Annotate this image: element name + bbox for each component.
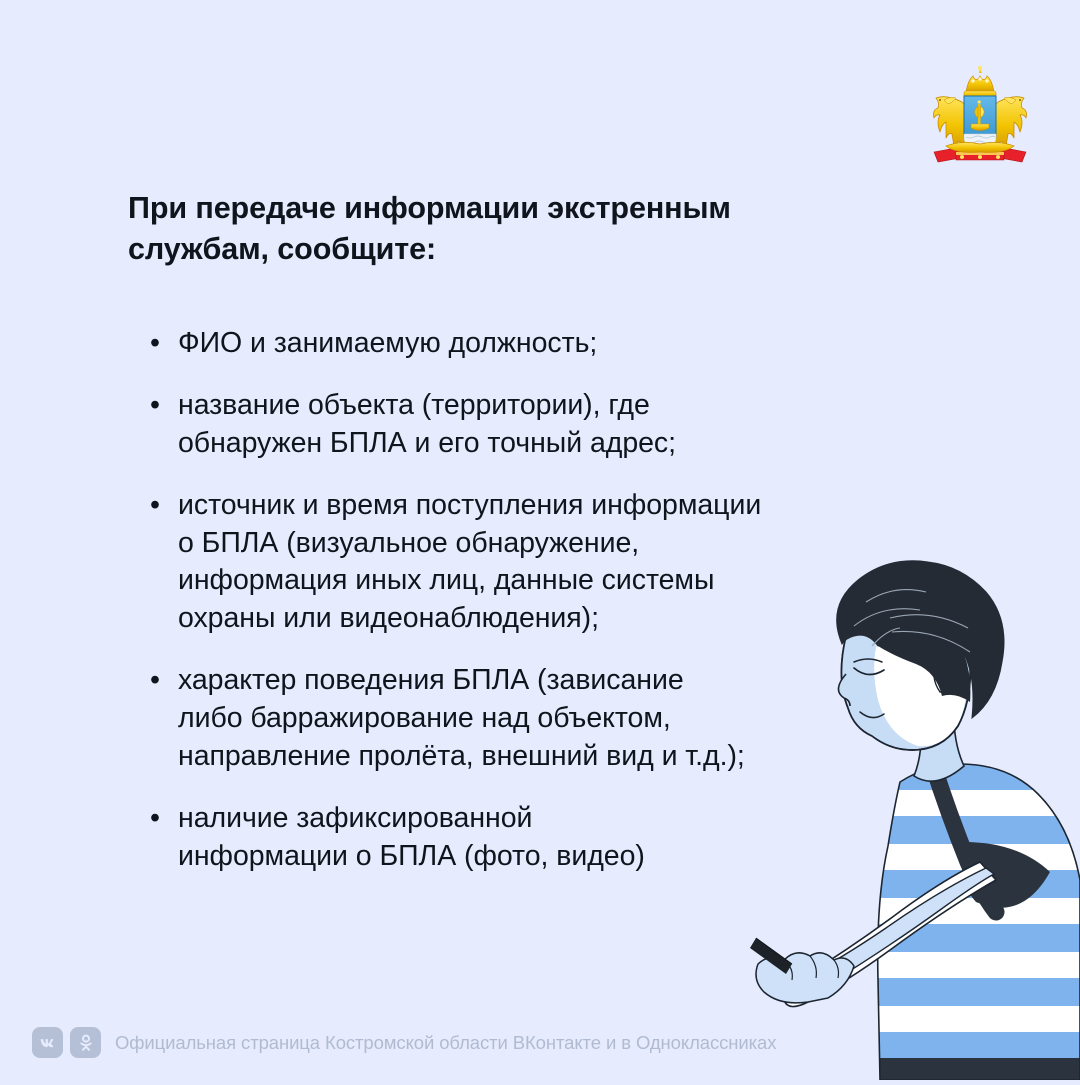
list-item-label-cont: информация иных лиц, данные системы (178, 562, 950, 600)
bullet-marker-icon: • (150, 662, 178, 700)
list-item-label-cont: обнаружен БПЛА и его точный адрес; (178, 425, 950, 463)
phone-icon (750, 938, 792, 974)
crown-icon (964, 66, 996, 97)
list-item-label-cont: направление пролёта, внешний вид и т.д.)… (178, 738, 950, 776)
arm (784, 862, 996, 1007)
list-item-label-cont: либо барражирование над объектом, (178, 700, 950, 738)
page-title-line-1: При передаче информации экстренным (128, 191, 731, 225)
ok-icon[interactable] (70, 1027, 101, 1058)
list-item-label-cont: охраны или видеонаблюдения); (178, 600, 950, 638)
footer-label: Официальная страница Костромской области… (115, 1032, 776, 1054)
ok-glyph (76, 1033, 96, 1053)
list-item-label: характер поведения БПЛА (зависание (178, 662, 950, 700)
bullet-marker-icon: • (150, 387, 178, 425)
page-title: При передаче информации экстренным служб… (128, 188, 888, 269)
footer: Официальная страница Костромской области… (32, 1027, 776, 1058)
instruction-list: • ФИО и занимаемую должность; • название… (150, 325, 950, 876)
list-item-label: наличие зафиксированной (178, 800, 950, 838)
bullet-marker-icon: • (150, 800, 178, 838)
list-item-label: ФИО и занимаемую должность; (178, 325, 950, 363)
bullet-marker-icon: • (150, 487, 178, 525)
list-item-label-cont: информации о БПЛА (фото, видео) (178, 838, 950, 876)
griffin-right-icon (994, 97, 1027, 150)
ribbon-icon (934, 142, 1026, 162)
vk-glyph (38, 1033, 58, 1053)
list-item: • ФИО и занимаемую должность; (150, 325, 950, 363)
bullet-marker-icon: • (150, 325, 178, 363)
vk-icon[interactable] (32, 1027, 63, 1058)
list-item: • источник и время поступления информаци… (150, 487, 950, 639)
list-item-label-cont: о БПЛА (визуальное обнаружение, (178, 525, 950, 563)
list-item-label: источник и время поступления информации (178, 487, 950, 525)
coat-of-arms (916, 62, 1044, 172)
list-item: • наличие зафиксированной информации о Б… (150, 800, 950, 876)
hand (756, 953, 854, 1003)
coat-of-arms-svg (916, 62, 1044, 172)
griffin-left-icon (934, 97, 967, 150)
list-item: • название объекта (территории), где обн… (150, 387, 950, 463)
list-item-label: название объекта (территории), где (178, 387, 950, 425)
list-item: • характер поведения БПЛА (зависание либ… (150, 662, 950, 776)
page-title-line-2: службам, сообщите: (128, 232, 436, 266)
